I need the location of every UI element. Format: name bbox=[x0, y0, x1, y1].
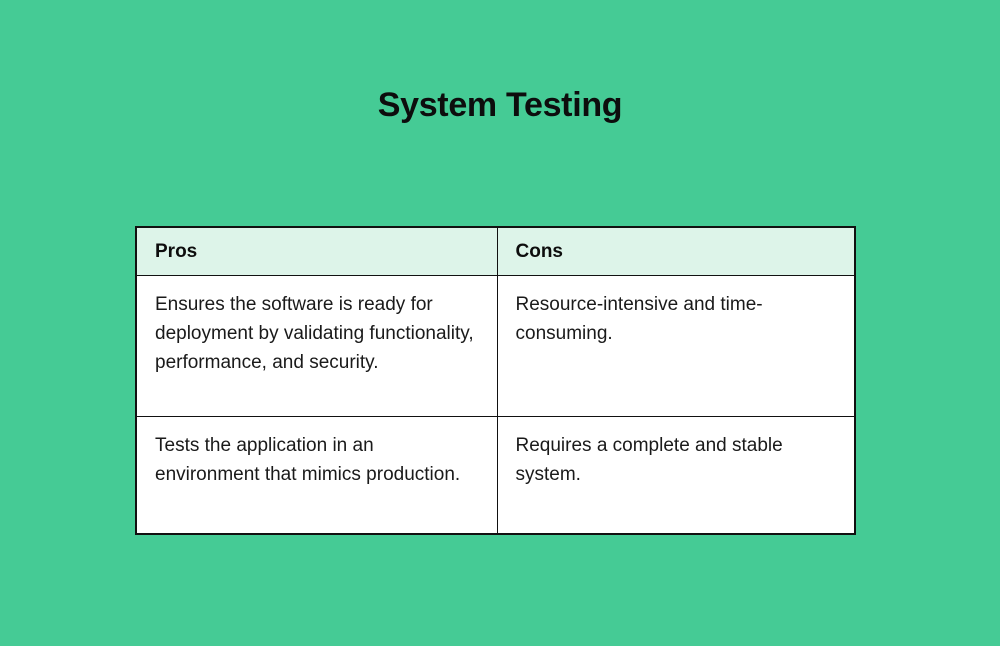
slide-canvas: System Testing Pros Cons Ensures the sof… bbox=[0, 0, 1000, 646]
table-body: Ensures the software is ready for deploy… bbox=[136, 276, 855, 535]
page-title: System Testing bbox=[0, 84, 1000, 126]
cell-pros-1: Ensures the software is ready for deploy… bbox=[136, 276, 497, 417]
cell-cons-2: Requires a complete and stable system. bbox=[497, 417, 855, 535]
column-header-pros: Pros bbox=[136, 227, 497, 276]
table-row: Tests the application in an environment … bbox=[136, 417, 855, 535]
column-header-cons: Cons bbox=[497, 227, 855, 276]
table-header-row: Pros Cons bbox=[136, 227, 855, 276]
cell-cons-1: Resource-intensive and time-consuming. bbox=[497, 276, 855, 417]
pros-cons-table: Pros Cons Ensures the software is ready … bbox=[135, 226, 856, 535]
table-header: Pros Cons bbox=[136, 227, 855, 276]
cell-pros-2: Tests the application in an environment … bbox=[136, 417, 497, 535]
table-row: Ensures the software is ready for deploy… bbox=[136, 276, 855, 417]
